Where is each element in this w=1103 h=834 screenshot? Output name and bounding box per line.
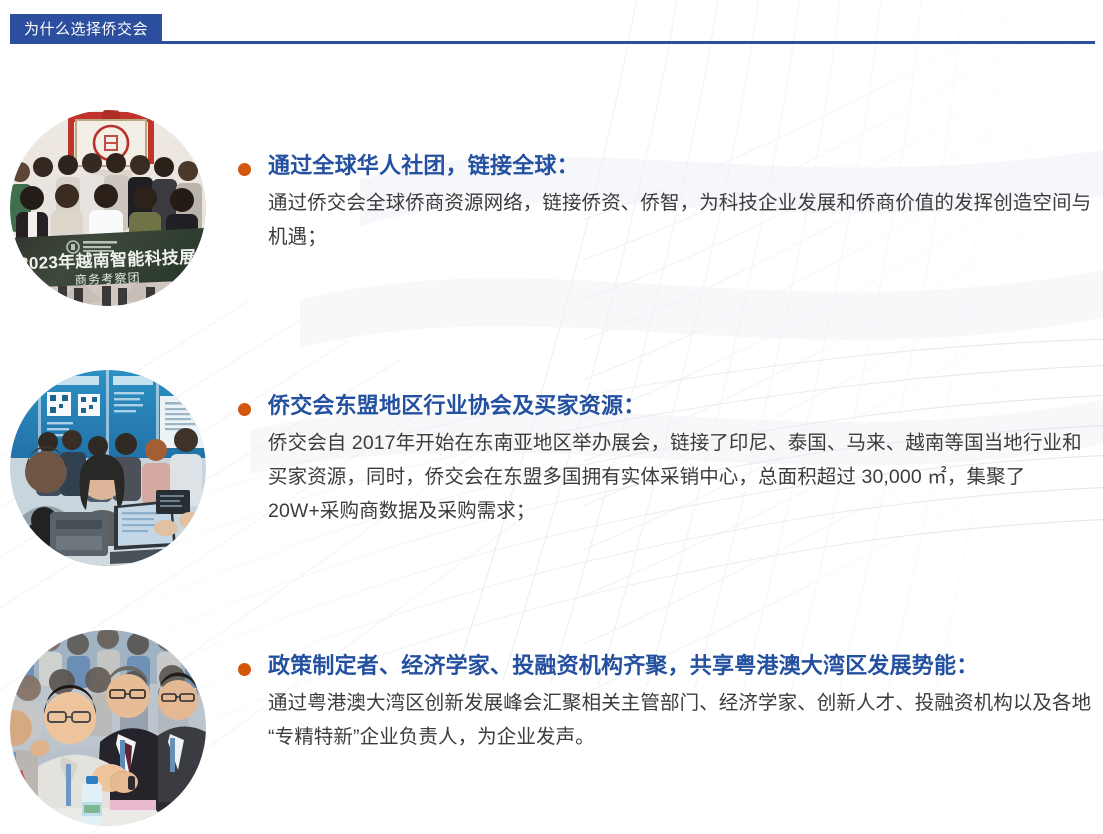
svg-text:商务考察团: 商务考察团 — [75, 270, 142, 288]
section-1-text: 通过全球华人社团，链接全球： 通过侨交会全球侨商资源网络，链接侨资、侨智，为科技… — [268, 150, 1092, 254]
section-3-heading: 政策制定者、经济学家、投融资机构齐聚，共享粤港澳大湾区发展势能： — [268, 650, 1092, 681]
photo-vietnam-delegation: 2023年越南智能科技展 商务考察团 — [10, 110, 206, 306]
page-title-tab: 为什么选择侨交会 — [10, 14, 162, 44]
section-2-body: 侨交会自 2017年开始在东南亚地区举办展会，链接了印尼、泰国、马来、越南等国当… — [268, 426, 1092, 528]
header-divider-rule — [10, 41, 1095, 44]
slide-header: 为什么选择侨交会 — [0, 0, 1103, 52]
photo-expo-registration — [10, 370, 206, 566]
section-2-text: 侨交会东盟地区行业协会及买家资源： 侨交会自 2017年开始在东南亚地区举办展会… — [268, 390, 1092, 528]
slide-why-choose-qiaojiaohui: 为什么选择侨交会 — [0, 0, 1103, 834]
bullet-dot-2 — [238, 403, 251, 416]
section-2-heading: 侨交会东盟地区行业协会及买家资源： — [268, 390, 1092, 421]
section-3-body: 通过粤港澳大湾区创新发展峰会汇聚相关主管部门、经济学家、创新人才、投融资机构以及… — [268, 686, 1092, 754]
bullet-dot-3 — [238, 663, 251, 676]
section-3-text: 政策制定者、经济学家、投融资机构齐聚，共享粤港澳大湾区发展势能： 通过粤港澳大湾… — [268, 650, 1092, 754]
bullet-dot-1 — [238, 163, 251, 176]
photo-summit-audience — [10, 630, 206, 826]
section-1-body: 通过侨交会全球侨商资源网络，链接侨资、侨智，为科技企业发展和侨商价值的发挥创造空… — [268, 186, 1092, 254]
section-1-heading: 通过全球华人社团，链接全球： — [268, 150, 1092, 181]
page-title: 为什么选择侨交会 — [24, 22, 148, 37]
